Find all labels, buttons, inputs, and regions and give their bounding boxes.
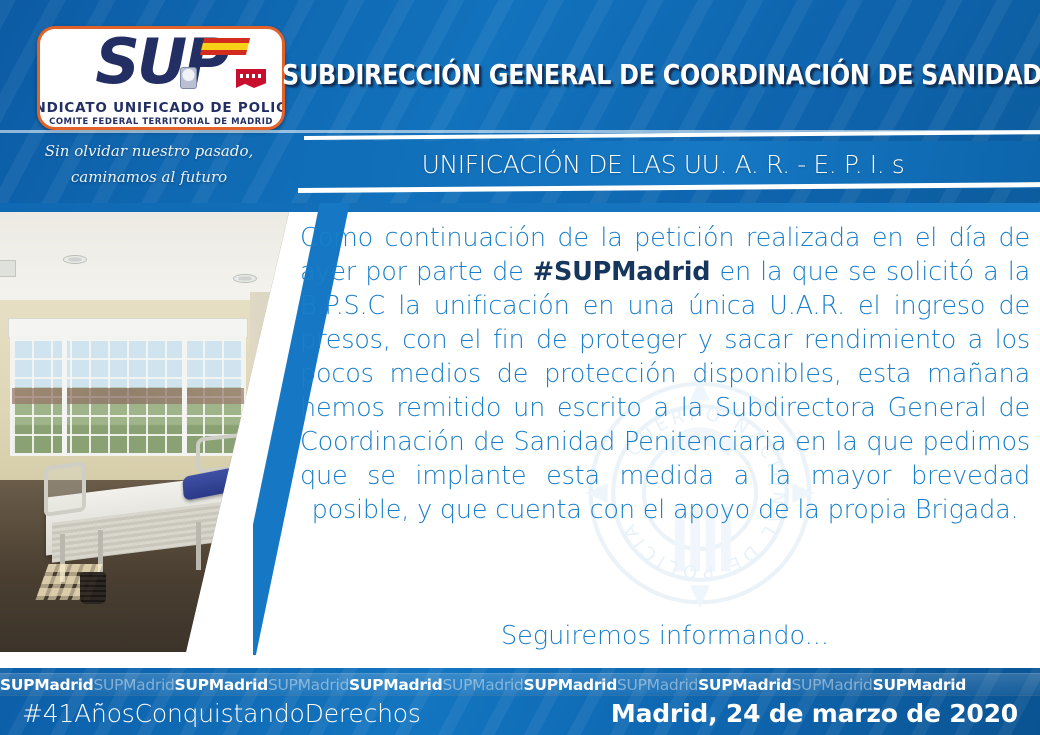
body-text-part2: en la que se solicitó a la B.P.S.C la un… bbox=[300, 257, 1030, 525]
ceiling-light-icon bbox=[233, 274, 257, 283]
slogan-line-2: caminamos al futuro bbox=[18, 164, 280, 190]
logo-line1: SINDICATO UNIFICADO DE POLICIA bbox=[37, 101, 285, 115]
slogan: Sin olvidar nuestro pasado, caminamos al… bbox=[18, 138, 280, 190]
banner-subtitle-text: UNIFICACIÓN DE LAS UU. A. R. - E. P. I. … bbox=[286, 142, 1040, 188]
supmadrid-tag-band: SUPMadridSUPMadridSUPMadridSUPMadridSUPM… bbox=[0, 673, 1040, 696]
supmadrid-tag: SUPMadrid bbox=[0, 676, 93, 694]
body-paragraph: Como continuación de la petición realiza… bbox=[300, 221, 1030, 527]
supmadrid-tag: SUPMadrid bbox=[698, 676, 791, 694]
logo-line2: COMITE FEDERAL TERRITORIAL DE MADRID bbox=[49, 117, 273, 127]
supmadrid-tag: SUPMadrid bbox=[268, 676, 349, 694]
slogan-line-1: Sin olvidar nuestro pasado, bbox=[18, 138, 280, 164]
closing-line: Seguiremos informando... bbox=[300, 621, 1030, 651]
hashtag-supmadrid: #SUPMadrid bbox=[533, 257, 711, 287]
ceiling-light-icon bbox=[63, 255, 87, 264]
supmadrid-tag: SUPMadrid bbox=[349, 676, 442, 694]
supmadrid-tag: SUPMadrid bbox=[617, 676, 698, 694]
header-title: SUBDIRECCIÓN GENERAL DE COORDINACIÓN DE … bbox=[282, 50, 1012, 100]
waste-bin bbox=[80, 572, 106, 604]
supmadrid-tag: SUPMadrid bbox=[524, 676, 617, 694]
supmadrid-tag: SUPMadrid bbox=[792, 676, 873, 694]
supmadrid-tag: SUPMadrid bbox=[873, 676, 966, 694]
hospital-room-photo bbox=[0, 212, 350, 652]
header: SUP SINDICATO UNIFICADO DE POLICIA COMIT… bbox=[0, 0, 1040, 132]
main-content-card: CUERPO NACIONAL DE POLICIA Como continua… bbox=[0, 203, 1040, 668]
poster-root: SUP SINDICATO UNIFICADO DE POLICIA COMIT… bbox=[0, 0, 1040, 735]
card-top-stripe bbox=[0, 203, 1040, 212]
card-bottom-gap bbox=[0, 655, 1040, 668]
footer: SUPMadridSUPMadridSUPMadridSUPMadridSUPM… bbox=[0, 668, 1040, 735]
logo-emblem: SUP bbox=[40, 29, 282, 101]
footer-hashtag: #41AñosConquistandoDerechos bbox=[22, 699, 421, 728]
spain-flag-icon bbox=[200, 38, 250, 55]
supmadrid-tag: SUPMadrid bbox=[442, 676, 523, 694]
subtitle-banner: UNIFICACIÓN DE LAS UU. A. R. - E. P. I. … bbox=[286, 136, 1040, 198]
sup-logo: SUP SINDICATO UNIFICADO DE POLICIA COMIT… bbox=[37, 26, 285, 130]
footer-date: Madrid, 24 de marzo de 2020 bbox=[611, 699, 1018, 728]
supmadrid-tag: SUPMadrid bbox=[175, 676, 268, 694]
police-crest-icon bbox=[180, 67, 197, 89]
supmadrid-tag: SUPMadrid bbox=[93, 676, 174, 694]
